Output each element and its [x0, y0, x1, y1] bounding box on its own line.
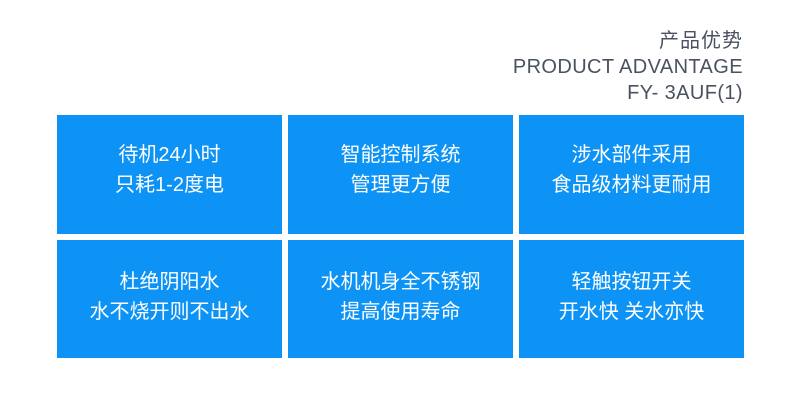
advantage-card-2-content: 智能控制系统 管理更方便 [341, 140, 461, 200]
advantage-card-4: 杜绝阴阳水 水不烧开则不出水 [57, 240, 282, 359]
advantage-card-6-line1: 轻触按钮开关 [559, 267, 705, 297]
advantage-card-5-line2: 提高使用寿命 [321, 297, 481, 327]
header-title-cn: 产品优势 [0, 28, 743, 54]
header-title-en: PRODUCT ADVANTAGE [0, 54, 743, 80]
advantage-card-2-line2: 管理更方便 [341, 170, 461, 200]
advantage-card-4-line1: 杜绝阴阳水 [90, 267, 250, 297]
advantage-card-5-line1: 水机机身全不锈钢 [321, 267, 481, 297]
header-model-number: FY- 3AUF(1) [0, 80, 743, 106]
advantage-grid: 待机24小时 只耗1-2度电 智能控制系统 管理更方便 涉水部件采用 食品级材料… [57, 115, 744, 358]
advantage-card-1: 待机24小时 只耗1-2度电 [57, 115, 282, 234]
advantage-card-5-content: 水机机身全不锈钢 提高使用寿命 [321, 267, 481, 327]
advantage-card-3: 涉水部件采用 食品级材料更耐用 [519, 115, 744, 234]
product-advantage-header: 产品优势 PRODUCT ADVANTAGE FY- 3AUF(1) [0, 0, 800, 106]
advantage-card-6: 轻触按钮开关 开水快 关水亦快 [519, 240, 744, 359]
advantage-card-6-line2: 开水快 关水亦快 [559, 297, 705, 327]
advantage-card-4-line2: 水不烧开则不出水 [90, 297, 250, 327]
advantage-card-6-content: 轻触按钮开关 开水快 关水亦快 [559, 267, 705, 327]
advantage-card-3-line1: 涉水部件采用 [552, 140, 712, 170]
advantage-card-3-line2: 食品级材料更耐用 [552, 170, 712, 200]
advantage-card-1-line2: 只耗1-2度电 [115, 170, 224, 200]
advantage-card-1-content: 待机24小时 只耗1-2度电 [115, 140, 224, 200]
advantage-card-4-content: 杜绝阴阳水 水不烧开则不出水 [90, 267, 250, 327]
advantage-card-2: 智能控制系统 管理更方便 [288, 115, 513, 234]
advantage-card-5: 水机机身全不锈钢 提高使用寿命 [288, 240, 513, 359]
advantage-card-2-line1: 智能控制系统 [341, 140, 461, 170]
advantage-card-3-content: 涉水部件采用 食品级材料更耐用 [552, 140, 712, 200]
advantage-card-1-line1: 待机24小时 [115, 140, 224, 170]
